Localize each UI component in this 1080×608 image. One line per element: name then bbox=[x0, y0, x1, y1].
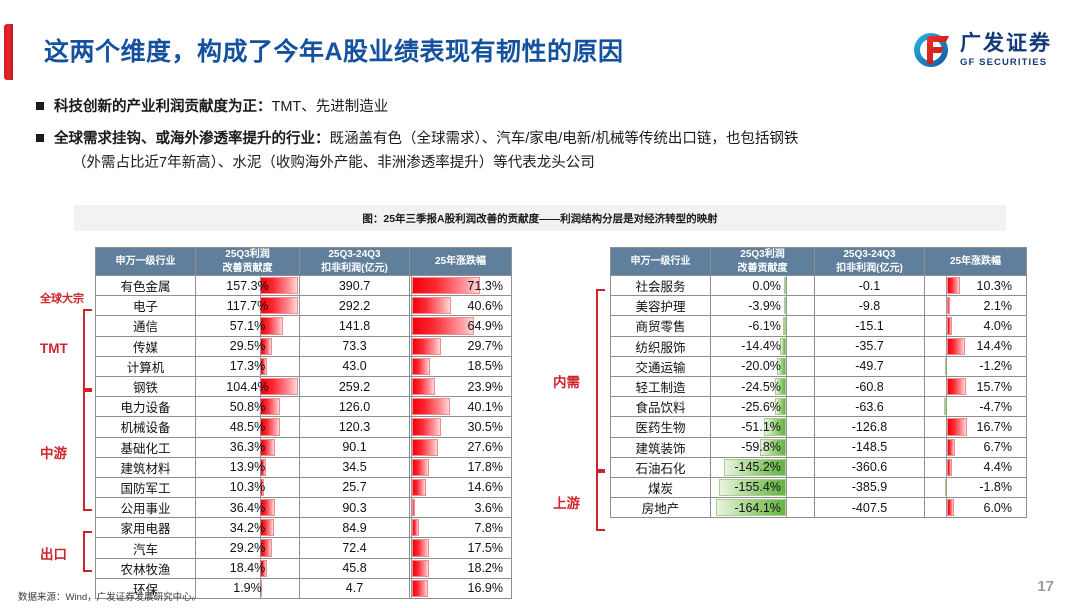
table-row[interactable]: 纺织服饰-14.4%-35.714.4% bbox=[611, 336, 1027, 356]
contribution-cell: 29.2% bbox=[196, 538, 300, 558]
industry-name-cell: 国防军工 bbox=[96, 477, 196, 497]
contribution-cell: 1.9% bbox=[196, 578, 300, 598]
table-row[interactable]: 建筑材料13.9%34.517.8% bbox=[96, 457, 512, 477]
bullet-square-icon bbox=[36, 134, 44, 142]
industry-name-cell: 轻工制造 bbox=[611, 376, 711, 396]
profit-cell: -360.6 bbox=[815, 457, 925, 477]
change-cell: 17.5% bbox=[410, 538, 512, 558]
annotation-label: TMT bbox=[40, 341, 68, 356]
change-cell: 3.6% bbox=[410, 498, 512, 518]
table-row[interactable]: 建筑装饰-59.8%-148.56.7% bbox=[611, 437, 1027, 457]
table-row[interactable]: 家用电器34.2%84.97.8% bbox=[96, 518, 512, 538]
industry-name-cell: 建筑材料 bbox=[96, 457, 196, 477]
table-row[interactable]: 社会服务0.0%-0.110.3% bbox=[611, 276, 1027, 296]
profit-cell: -407.5 bbox=[815, 498, 925, 518]
industry-name-cell: 商贸零售 bbox=[611, 316, 711, 336]
table-row[interactable]: 汽车29.2%72.417.5% bbox=[96, 538, 512, 558]
change-cell: -1.8% bbox=[925, 477, 1027, 497]
table-row[interactable]: 有色金属157.3%390.771.3% bbox=[96, 276, 512, 296]
logo-text-en: GF SECURITIES bbox=[960, 58, 1052, 68]
profit-cell: -148.5 bbox=[815, 437, 925, 457]
annotation-label: 出口 bbox=[40, 543, 67, 563]
table-row[interactable]: 基础化工36.3%90.127.6% bbox=[96, 437, 512, 457]
contribution-cell: -3.9% bbox=[711, 296, 815, 316]
table-row[interactable]: 石油石化-145.2%-360.64.4% bbox=[611, 457, 1027, 477]
contribution-cell: 36.4% bbox=[196, 498, 300, 518]
industry-name-cell: 通信 bbox=[96, 316, 196, 336]
industry-name-cell: 家用电器 bbox=[96, 518, 196, 538]
title-accent-bar bbox=[4, 24, 13, 80]
industry-table: 申万一级行业25Q3利润改善贡献度25Q3-24Q3扣非利润(亿元)25年涨跌幅… bbox=[610, 247, 1027, 518]
change-cell: 4.4% bbox=[925, 457, 1027, 477]
table-row[interactable]: 医药生物-51.1%-126.816.7% bbox=[611, 417, 1027, 437]
table-row[interactable]: 通信57.1%141.864.9% bbox=[96, 316, 512, 336]
profit-cell: -0.1 bbox=[815, 276, 925, 296]
profit-cell: 259.2 bbox=[300, 376, 410, 396]
contribution-cell: -20.0% bbox=[711, 356, 815, 376]
contribution-cell: -145.2% bbox=[711, 457, 815, 477]
page-number: 17 bbox=[1037, 578, 1054, 595]
profit-cell: 34.5 bbox=[300, 457, 410, 477]
change-cell: 6.7% bbox=[925, 437, 1027, 457]
profit-cell: -60.8 bbox=[815, 376, 925, 396]
bullet-rest-text: TMT、先进制造业 bbox=[272, 99, 389, 115]
profit-cell: 90.3 bbox=[300, 498, 410, 518]
change-cell: 64.9% bbox=[410, 316, 512, 336]
industry-name-cell: 美容护理 bbox=[611, 296, 711, 316]
change-cell: 18.5% bbox=[410, 356, 512, 376]
change-cell: 71.3% bbox=[410, 276, 512, 296]
bullet-body: 全球需求挂钩、或海外渗透率提升的行业：既涵盖有色（全球需求）、汽车/家电/电新/… bbox=[54, 128, 798, 175]
change-cell: -1.2% bbox=[925, 356, 1027, 376]
bullet-bold-text: 科技创新的产业利润贡献度为正： bbox=[54, 99, 272, 115]
table-row[interactable]: 电力设备50.8%126.040.1% bbox=[96, 397, 512, 417]
right-data-table: 申万一级行业25Q3利润改善贡献度25Q3-24Q3扣非利润(亿元)25年涨跌幅… bbox=[610, 247, 1027, 518]
figure-caption-text: 图：25年三季报A股利润改善的贡献度——利润结构分层是对经济转型的映射 bbox=[362, 211, 717, 226]
bullet-rest-text: 既涵盖有色（全球需求）、汽车/家电/电新/机械等传统出口链，也包括钢铁 bbox=[330, 131, 799, 147]
gf-logo-icon bbox=[909, 30, 953, 70]
bullet-square-icon bbox=[36, 102, 44, 110]
col-header-industry: 申万一级行业 bbox=[611, 248, 711, 276]
change-cell: 16.7% bbox=[925, 417, 1027, 437]
profit-cell: 73.3 bbox=[300, 336, 410, 356]
annotation-bracket bbox=[83, 531, 92, 571]
contribution-cell: 104.4% bbox=[196, 376, 300, 396]
list-item: 科技创新的产业利润贡献度为正：TMT、先进制造业 bbox=[36, 96, 1046, 119]
logo-text-cn: 广发证券 bbox=[960, 33, 1052, 54]
figure-caption: 图：25年三季报A股利润改善的贡献度——利润结构分层是对经济转型的映射 bbox=[74, 205, 1006, 231]
profit-cell: 43.0 bbox=[300, 356, 410, 376]
bullet-continuation-text: （外需占比近7年新高）、水泥（收购海外产能、非洲渗透率提升）等代表龙头公司 bbox=[54, 152, 798, 175]
industry-name-cell: 公用事业 bbox=[96, 498, 196, 518]
contribution-cell: -164.1% bbox=[711, 498, 815, 518]
bullet-bold-text: 全球需求挂钩、或海外渗透率提升的行业： bbox=[54, 131, 330, 147]
annotation-bracket bbox=[596, 471, 605, 532]
table-row[interactable]: 美容护理-3.9%-9.82.1% bbox=[611, 296, 1027, 316]
table-row[interactable]: 煤炭-155.4%-385.9-1.8% bbox=[611, 477, 1027, 497]
industry-name-cell: 传媒 bbox=[96, 336, 196, 356]
industry-name-cell: 计算机 bbox=[96, 356, 196, 376]
page-title: 这两个维度，构成了今年A股业绩表现有韧性的原因 bbox=[44, 32, 624, 68]
contribution-cell: -14.4% bbox=[711, 336, 815, 356]
change-cell: 2.1% bbox=[925, 296, 1027, 316]
table-row[interactable]: 电子117.7%292.240.6% bbox=[96, 296, 512, 316]
col-header-profit: 25Q3-24Q3扣非利润(亿元) bbox=[815, 248, 925, 276]
industry-name-cell: 医药生物 bbox=[611, 417, 711, 437]
contribution-cell: 13.9% bbox=[196, 457, 300, 477]
table-row[interactable]: 机械设备48.5%120.330.5% bbox=[96, 417, 512, 437]
change-cell: 16.9% bbox=[410, 578, 512, 598]
profit-cell: 141.8 bbox=[300, 316, 410, 336]
annotation-label: 全球大宗 bbox=[40, 290, 84, 306]
profit-cell: 390.7 bbox=[300, 276, 410, 296]
change-cell: 15.7% bbox=[925, 376, 1027, 396]
contribution-cell: -6.1% bbox=[711, 316, 815, 336]
profit-cell: 25.7 bbox=[300, 477, 410, 497]
profit-cell: 126.0 bbox=[300, 397, 410, 417]
change-cell: 40.1% bbox=[410, 397, 512, 417]
change-cell: 14.4% bbox=[925, 336, 1027, 356]
contribution-cell: -25.6% bbox=[711, 397, 815, 417]
profit-cell: 84.9 bbox=[300, 518, 410, 538]
profit-cell: 72.4 bbox=[300, 538, 410, 558]
contribution-cell: -59.8% bbox=[711, 437, 815, 457]
annotation-label: 内需 bbox=[553, 371, 580, 391]
industry-name-cell: 社会服务 bbox=[611, 276, 711, 296]
table-row[interactable]: 轻工制造-24.5%-60.815.7% bbox=[611, 376, 1027, 396]
profit-cell: -9.8 bbox=[815, 296, 925, 316]
change-cell: 4.0% bbox=[925, 316, 1027, 336]
table-row[interactable]: 公用事业36.4%90.33.6% bbox=[96, 498, 512, 518]
annotation-bracket bbox=[596, 289, 605, 471]
profit-cell: -49.7 bbox=[815, 356, 925, 376]
change-cell: 29.7% bbox=[410, 336, 512, 356]
profit-cell: 292.2 bbox=[300, 296, 410, 316]
annotation-bracket bbox=[83, 390, 92, 511]
slide: 这两个维度，构成了今年A股业绩表现有韧性的原因 广发证券 GF SECURITI… bbox=[0, 0, 1080, 608]
industry-name-cell: 农林牧渔 bbox=[96, 558, 196, 578]
col-header-industry: 申万一级行业 bbox=[96, 248, 196, 276]
contribution-cell: 157.3% bbox=[196, 276, 300, 296]
table-row[interactable]: 计算机17.3%43.018.5% bbox=[96, 356, 512, 376]
change-cell: -4.7% bbox=[925, 397, 1027, 417]
change-cell: 6.0% bbox=[925, 498, 1027, 518]
change-cell: 23.9% bbox=[410, 376, 512, 396]
industry-table: 申万一级行业25Q3利润改善贡献度25Q3-24Q3扣非利润(亿元)25年涨跌幅… bbox=[95, 247, 512, 599]
profit-cell: 45.8 bbox=[300, 558, 410, 578]
industry-name-cell: 基础化工 bbox=[96, 437, 196, 457]
industry-name-cell: 电力设备 bbox=[96, 397, 196, 417]
annotation-label: 中游 bbox=[40, 442, 67, 462]
profit-cell: 4.7 bbox=[300, 578, 410, 598]
industry-name-cell: 食品饮料 bbox=[611, 397, 711, 417]
table-row[interactable]: 交通运输-20.0%-49.7-1.2% bbox=[611, 356, 1027, 376]
table-row[interactable]: 农林牧渔18.4%45.818.2% bbox=[96, 558, 512, 578]
contribution-cell: 10.3% bbox=[196, 477, 300, 497]
annotation-label: 上游 bbox=[553, 492, 580, 512]
industry-name-cell: 煤炭 bbox=[611, 477, 711, 497]
contribution-cell: -51.1% bbox=[711, 417, 815, 437]
profit-cell: 90.1 bbox=[300, 437, 410, 457]
table-row[interactable]: 房地产-164.1%-407.56.0% bbox=[611, 498, 1027, 518]
industry-name-cell: 石油石化 bbox=[611, 457, 711, 477]
col-header-contribution: 25Q3利润改善贡献度 bbox=[196, 248, 300, 276]
brand-logo: 广发证券 GF SECURITIES bbox=[909, 27, 1052, 73]
contribution-cell: -24.5% bbox=[711, 376, 815, 396]
annotation-bracket bbox=[83, 309, 92, 390]
industry-name-cell: 机械设备 bbox=[96, 417, 196, 437]
industry-name-cell: 有色金属 bbox=[96, 276, 196, 296]
change-cell: 10.3% bbox=[925, 276, 1027, 296]
industry-name-cell: 钢铁 bbox=[96, 376, 196, 396]
change-cell: 27.6% bbox=[410, 437, 512, 457]
change-cell: 17.8% bbox=[410, 457, 512, 477]
table-row[interactable]: 钢铁104.4%259.223.9% bbox=[96, 376, 512, 396]
contribution-cell: -155.4% bbox=[711, 477, 815, 497]
contribution-cell: 34.2% bbox=[196, 518, 300, 538]
profit-cell: -15.1 bbox=[815, 316, 925, 336]
bullet-body: 科技创新的产业利润贡献度为正：TMT、先进制造业 bbox=[54, 96, 388, 119]
change-cell: 18.2% bbox=[410, 558, 512, 578]
industry-name-cell: 交通运输 bbox=[611, 356, 711, 376]
contribution-cell: 50.8% bbox=[196, 397, 300, 417]
change-cell: 14.6% bbox=[410, 477, 512, 497]
industry-name-cell: 汽车 bbox=[96, 538, 196, 558]
col-header-change: 25年涨跌幅 bbox=[925, 248, 1027, 276]
col-header-contribution: 25Q3利润改善贡献度 bbox=[711, 248, 815, 276]
profit-cell: -63.6 bbox=[815, 397, 925, 417]
industry-name-cell: 房地产 bbox=[611, 498, 711, 518]
change-cell: 7.8% bbox=[410, 518, 512, 538]
contribution-cell: 117.7% bbox=[196, 296, 300, 316]
profit-cell: -126.8 bbox=[815, 417, 925, 437]
source-note: 数据来源：Wind，广发证券发展研究中心。 bbox=[18, 589, 201, 603]
contribution-cell: 36.3% bbox=[196, 437, 300, 457]
table-row[interactable]: 国防军工10.3%25.714.6% bbox=[96, 477, 512, 497]
contribution-cell: 17.3% bbox=[196, 356, 300, 376]
left-data-table: 申万一级行业25Q3利润改善贡献度25Q3-24Q3扣非利润(亿元)25年涨跌幅… bbox=[95, 247, 512, 599]
change-cell: 40.6% bbox=[410, 296, 512, 316]
list-item: 全球需求挂钩、或海外渗透率提升的行业：既涵盖有色（全球需求）、汽车/家电/电新/… bbox=[36, 128, 1046, 175]
col-header-change: 25年涨跌幅 bbox=[410, 248, 512, 276]
col-header-profit: 25Q3-24Q3扣非利润(亿元) bbox=[300, 248, 410, 276]
industry-name-cell: 电子 bbox=[96, 296, 196, 316]
industry-name-cell: 建筑装饰 bbox=[611, 437, 711, 457]
profit-cell: -35.7 bbox=[815, 336, 925, 356]
profit-cell: -385.9 bbox=[815, 477, 925, 497]
industry-name-cell: 纺织服饰 bbox=[611, 336, 711, 356]
change-cell: 30.5% bbox=[410, 417, 512, 437]
bullet-list: 科技创新的产业利润贡献度为正：TMT、先进制造业 全球需求挂钩、或海外渗透率提升… bbox=[36, 96, 1046, 184]
table-row[interactable]: 传媒29.5%73.329.7% bbox=[96, 336, 512, 356]
contribution-cell: 48.5% bbox=[196, 417, 300, 437]
table-row[interactable]: 食品饮料-25.6%-63.6-4.7% bbox=[611, 397, 1027, 417]
contribution-cell: 29.5% bbox=[196, 336, 300, 356]
profit-cell: 120.3 bbox=[300, 417, 410, 437]
table-row[interactable]: 商贸零售-6.1%-15.14.0% bbox=[611, 316, 1027, 336]
contribution-cell: 0.0% bbox=[711, 276, 815, 296]
contribution-cell: 18.4% bbox=[196, 558, 300, 578]
contribution-cell: 57.1% bbox=[196, 316, 300, 336]
